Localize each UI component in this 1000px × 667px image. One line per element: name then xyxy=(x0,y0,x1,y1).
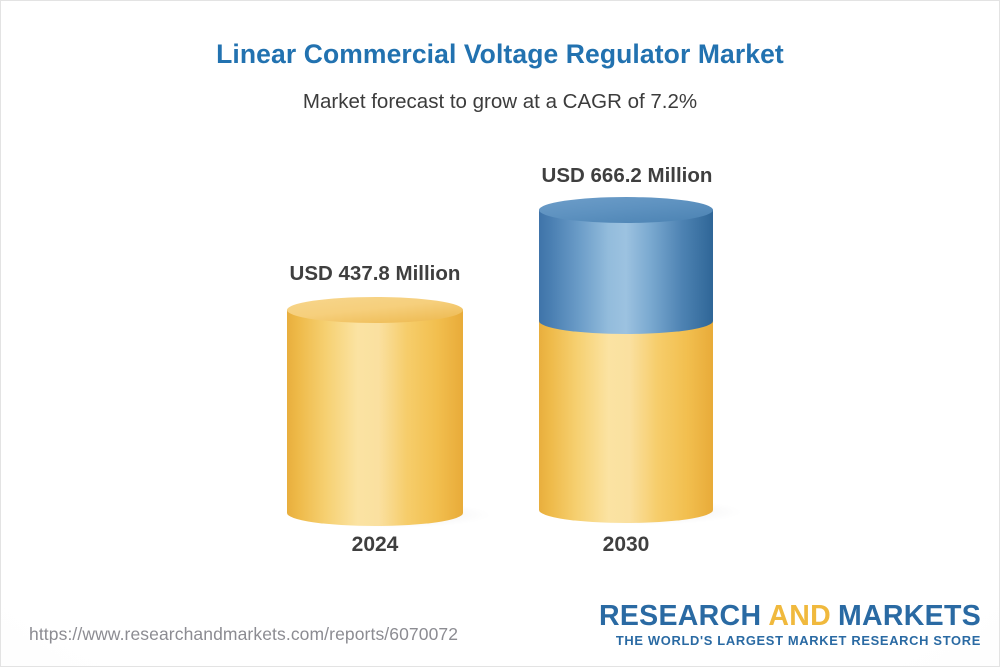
bar-top-2030 xyxy=(539,197,713,223)
report-url[interactable]: https://www.researchandmarkets.com/repor… xyxy=(29,624,458,645)
bar-cylinder-2024 xyxy=(277,294,487,539)
value-label-2030: USD 666.2 Million xyxy=(525,164,729,188)
logo-word-markets: MARKETS xyxy=(838,600,981,632)
bar-body-2024 xyxy=(287,310,463,526)
bar-cylinder-2030 xyxy=(529,194,741,536)
bar-segment-growth-2030 xyxy=(539,210,713,334)
chart-figure: Linear Commercial Voltage Regulator Mark… xyxy=(0,0,1000,667)
category-label-2024: 2024 xyxy=(275,533,475,557)
bar-segment-base-2030 xyxy=(539,321,713,523)
plot-area: USD 437.8 Million USD 666.2 Million 2024… xyxy=(1,1,1000,601)
value-label-2024: USD 437.8 Million xyxy=(275,262,475,286)
bar-top-2024 xyxy=(287,297,463,323)
logo-word-research: RESEARCH xyxy=(599,600,761,632)
brand-logo: RESEARCHANDMARKETS THE WORLD'S LARGEST M… xyxy=(599,602,981,648)
category-label-2030: 2030 xyxy=(526,533,726,557)
logo-wordmark: RESEARCHANDMARKETS xyxy=(599,602,981,631)
logo-tagline: THE WORLD'S LARGEST MARKET RESEARCH STOR… xyxy=(599,635,981,648)
logo-word-and: AND xyxy=(768,600,831,632)
